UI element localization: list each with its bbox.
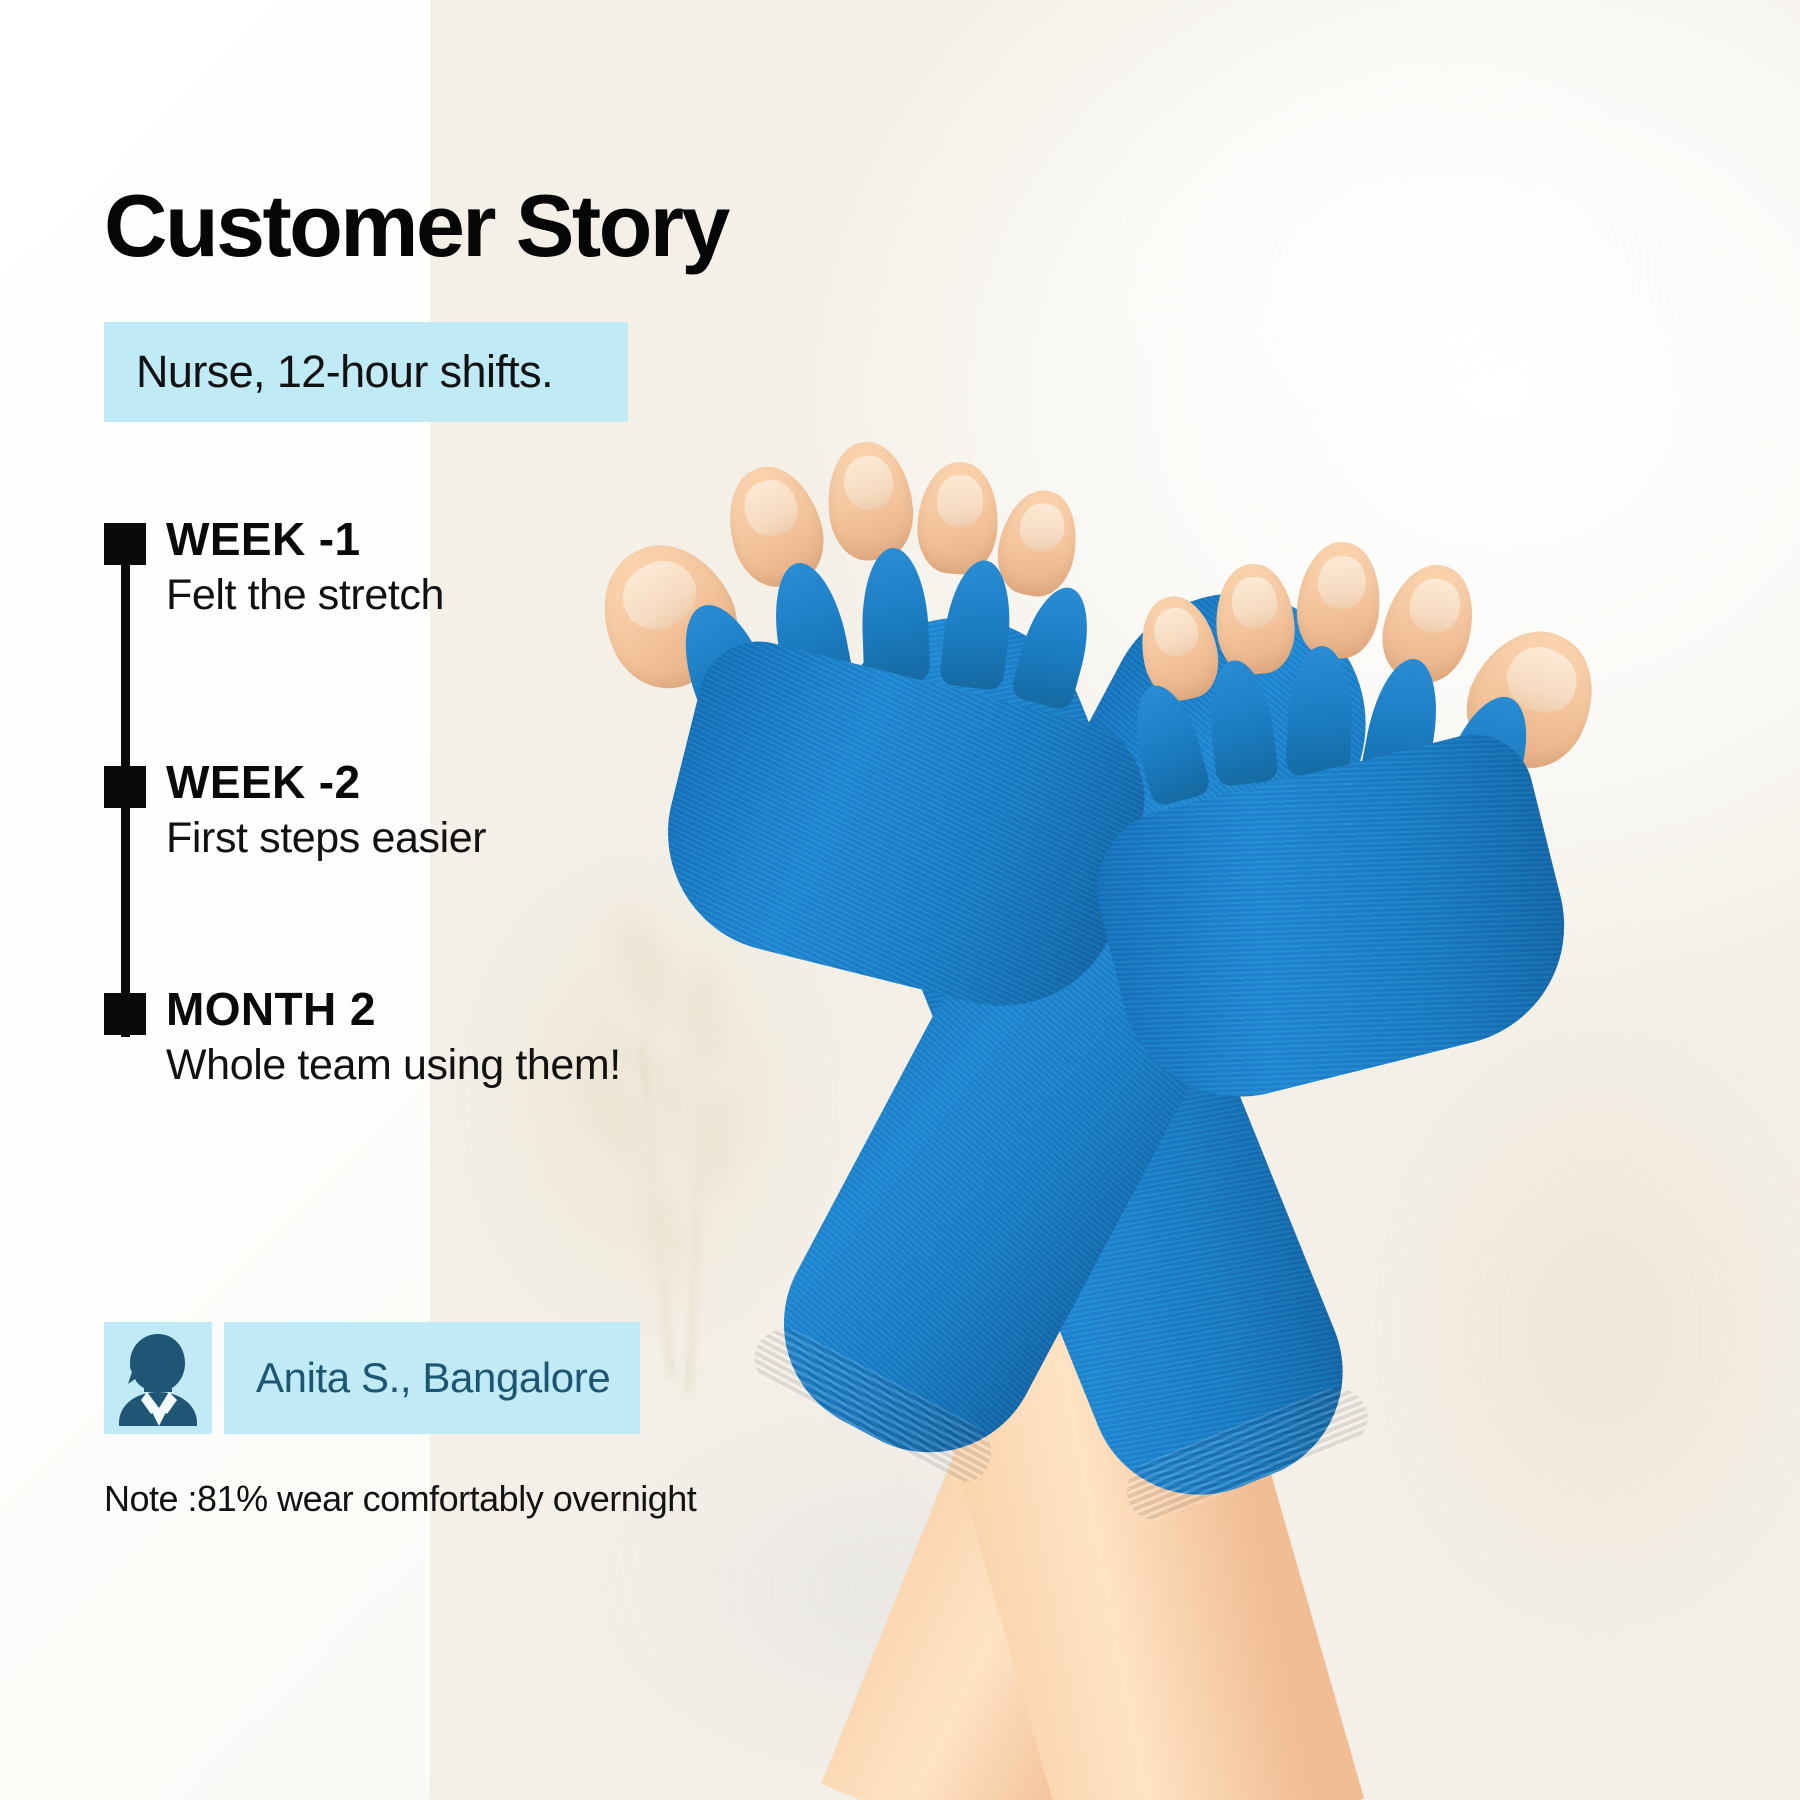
timeline-item-desc: Whole team using them!: [166, 1041, 621, 1090]
toenail: [1315, 554, 1368, 612]
toe-separator: [860, 547, 931, 683]
female-user-avatar-icon: [104, 1322, 212, 1434]
timeline-item-label: WEEK -2: [166, 758, 486, 808]
toenail: [1150, 605, 1202, 661]
foot-right-toes: [1030, 480, 1650, 1000]
avatar: [104, 1322, 212, 1434]
photo-bedding-blur-right: [1340, 980, 1800, 1680]
timeline-marker-square-icon: [104, 523, 146, 565]
footnote: Note :81% wear comfortably overnight: [104, 1478, 696, 1520]
timeline-item-label: WEEK -1: [166, 515, 444, 565]
toenail: [1230, 576, 1279, 630]
customer-attribution: Anita S., Bangalore: [104, 1322, 640, 1434]
content-panel: Customer Story Nurse, 12-hour shifts. WE…: [0, 0, 800, 1800]
timeline-item-text: WEEK -1 Felt the stretch: [166, 515, 444, 620]
toe-3-right: [1292, 538, 1386, 662]
toe-4-right: [1212, 561, 1297, 676]
attribution-name: Anita S., Bangalore: [256, 1354, 610, 1402]
toenail: [842, 454, 896, 513]
timeline-item-label: MONTH 2: [166, 985, 621, 1035]
toenail: [935, 474, 985, 529]
toe-3-left: [822, 438, 918, 564]
timeline-item-text: WEEK -2 First steps easier: [166, 758, 486, 863]
photo-highlight-blur: [1110, 60, 1710, 480]
timeline-item-desc: Felt the stretch: [166, 571, 444, 620]
timeline-item-text: MONTH 2 Whole team using them!: [166, 985, 621, 1090]
timeline-item-desc: First steps easier: [166, 814, 486, 863]
toe-separator: [1286, 645, 1354, 777]
subtitle-badge: Nurse, 12-hour shifts.: [104, 322, 628, 422]
toe-4-left: [914, 459, 1002, 576]
toe-separator: [1124, 678, 1212, 808]
timeline-marker-square-icon: [104, 993, 146, 1035]
attribution-name-badge: Anita S., Bangalore: [224, 1322, 640, 1434]
toenail: [1403, 573, 1466, 639]
page-title: Customer Story: [104, 182, 728, 270]
customer-story-poster: Customer Story Nurse, 12-hour shifts. WE…: [0, 0, 1800, 1800]
progress-timeline: WEEK -1 Felt the stretch WEEK -2 First s…: [104, 515, 724, 1075]
timeline-marker-square-icon: [104, 766, 146, 808]
subtitle-text: Nurse, 12-hour shifts.: [136, 346, 553, 398]
